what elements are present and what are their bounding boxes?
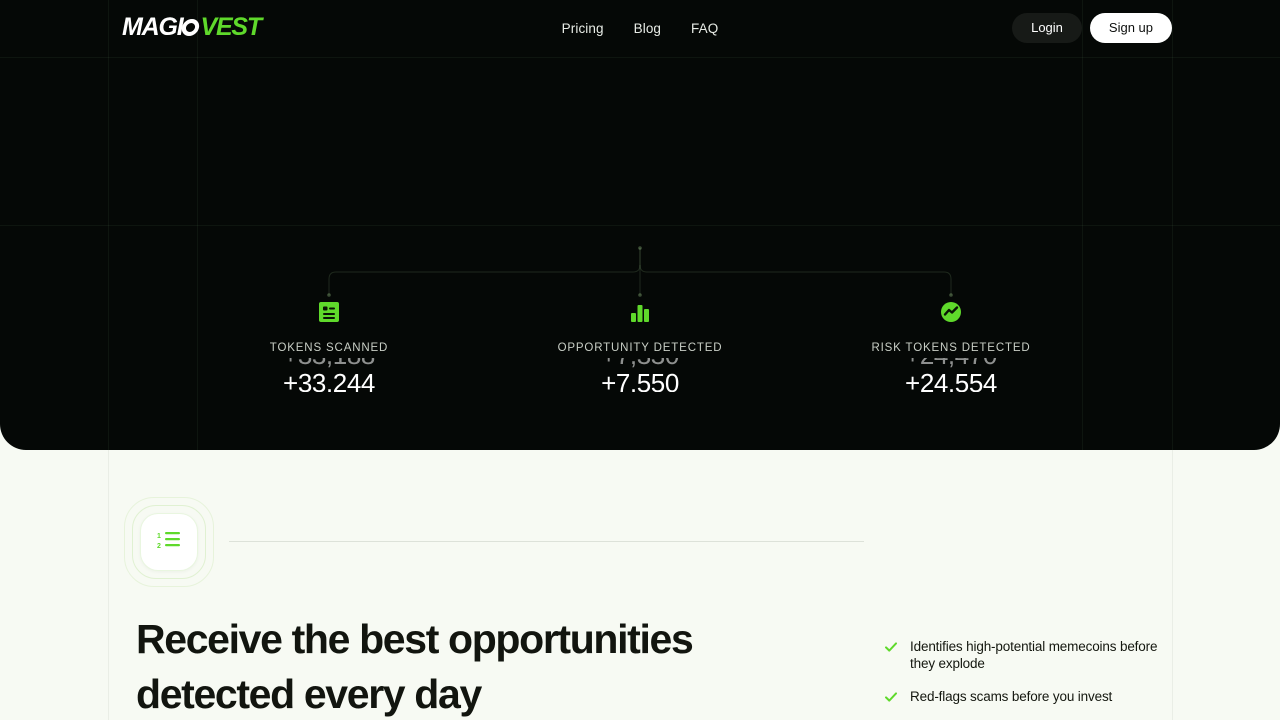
nav-link-pricing[interactable]: Pricing [562,21,604,36]
login-button[interactable]: Login [1012,13,1082,43]
stat-value: +7,550 [540,368,740,392]
ordered-list-icon: 1 2 [156,527,182,558]
nav-link-blog[interactable]: Blog [634,21,661,36]
stats-row: TOKENS SCANNED +33,188 +33,244 OPPORTUNI… [0,300,1280,392]
feature-badge: 1 2 [124,497,214,587]
stat-tokens-scanned: TOKENS SCANNED +33,188 +33,244 [174,300,485,392]
check-icon [884,640,898,659]
list-item: Red-flags scams before you invest [884,688,1164,709]
list-item-label: Red-flags scams before you invest [910,688,1112,705]
list-item-label: Identifies high-potential memecoins befo… [910,638,1164,672]
stat-value: +33,244 [229,368,429,392]
page-title: Receive the best opportunities detected … [136,612,776,720]
bar-chart-icon [628,300,652,324]
guide-line-left [108,450,109,720]
stat-risk-tokens-detected: RISK TOKENS DETECTED +24,470 +24,554 [796,300,1107,392]
top-navigation-bar: MAGIVEST Pricing Blog FAQ Login Sign up [0,0,1280,57]
svg-text:1: 1 [157,533,161,540]
list-item: Identifies high-potential memecoins befo… [884,638,1164,672]
stat-counter-animated: +24,470 +24,554 [851,358,1051,392]
stat-value: +24,554 [851,368,1051,392]
hero-section: TOKENS SCANNED +33,188 +33,244 OPPORTUNI… [0,0,1280,450]
stat-label: TOKENS SCANNED [270,342,388,354]
stat-opportunity-detected: OPPORTUNITY DETECTED +7,330 +7,550 [485,300,796,392]
stat-counter-animated: +7,330 +7,550 [540,358,740,392]
signup-button[interactable]: Sign up [1090,13,1172,43]
document-report-icon [317,300,341,324]
svg-text:2: 2 [157,543,161,550]
feature-checklist: Identifies high-potential memecoins befo… [884,638,1164,720]
check-icon [884,690,898,709]
stat-label: OPPORTUNITY DETECTED [558,342,723,354]
section-divider [229,541,864,542]
stat-label: RISK TOKENS DETECTED [871,342,1030,354]
landing-page: TOKENS SCANNED +33,188 +33,244 OPPORTUNI… [0,0,1280,720]
stat-counter-animated: +33,188 +33,244 [229,358,429,392]
trend-circle-icon [939,300,963,324]
guide-line-right [1172,450,1173,720]
nav-link-faq[interactable]: FAQ [691,21,718,36]
nav-actions: Login Sign up [1012,13,1172,43]
